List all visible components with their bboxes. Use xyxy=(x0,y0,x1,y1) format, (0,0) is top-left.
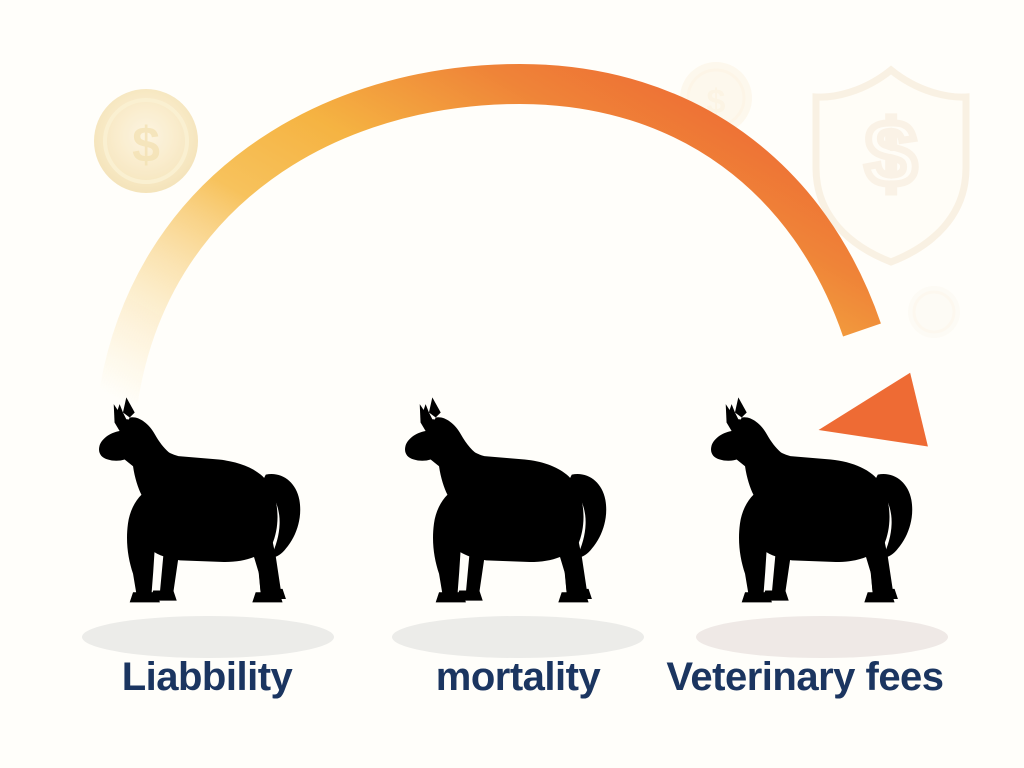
svg-text:$: $ xyxy=(132,117,160,173)
circle-faint-icon xyxy=(908,286,960,338)
horse-label-mortality: mortality xyxy=(368,655,668,700)
ground-shadows xyxy=(82,616,948,658)
horse-mortality xyxy=(405,397,606,602)
coin-dollar-large-icon: $ xyxy=(94,89,198,193)
shield-dollar-icon: $ xyxy=(816,70,966,262)
horse-label-veterinary-fees: Veterinary fees xyxy=(655,655,955,700)
illustration-canvas: $ $ $ xyxy=(0,0,1024,768)
svg-text:$: $ xyxy=(865,103,916,205)
scene-svg: $ $ $ xyxy=(0,0,1024,768)
horse-liability xyxy=(99,397,300,602)
horse-label-liability: Liabbility xyxy=(57,655,357,700)
